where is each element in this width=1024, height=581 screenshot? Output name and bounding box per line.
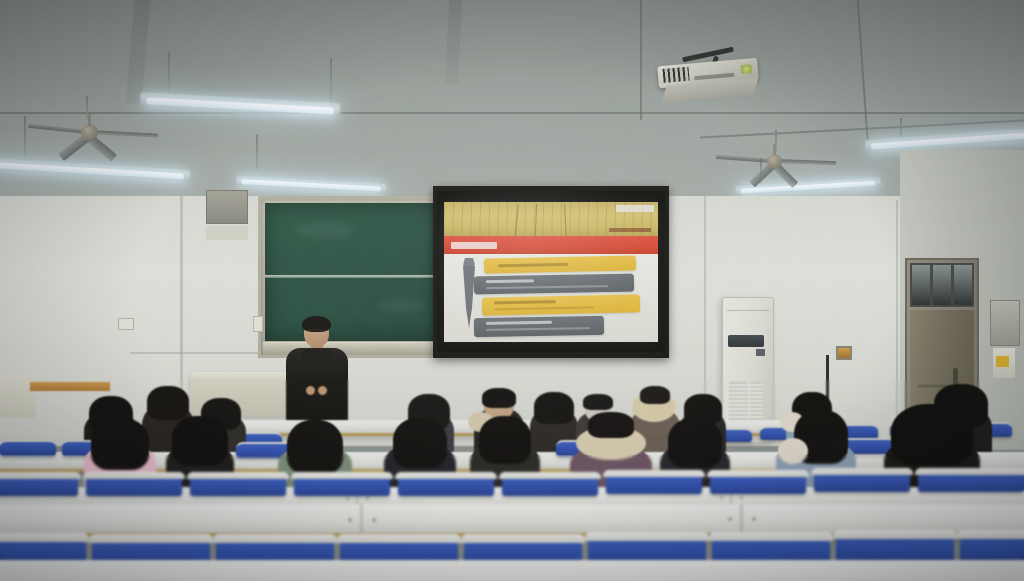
slide-bullet-sub <box>486 285 608 289</box>
slide-bullet-heading <box>486 279 534 283</box>
light-hanger-4 <box>256 134 258 170</box>
wood-trim-strip <box>30 382 110 391</box>
wall-baseboard-line <box>130 352 270 354</box>
chair-frame <box>0 472 81 479</box>
student-hair <box>583 394 613 410</box>
fan-blade <box>88 130 158 138</box>
student-hair <box>147 386 189 420</box>
fan-hub <box>81 124 98 141</box>
chair-frame <box>707 470 809 477</box>
transom-pane <box>954 265 972 305</box>
ac-seam <box>727 310 769 311</box>
slide-bullet-heading <box>498 263 568 267</box>
chair-frame <box>89 534 213 543</box>
chair[interactable] <box>814 470 910 492</box>
light-switch-plate-secondary[interactable] <box>253 316 263 332</box>
student-hair <box>172 416 228 466</box>
projector-vents <box>662 67 689 83</box>
field-furrow <box>535 204 537 236</box>
ac-display-panel <box>728 335 764 347</box>
light-switch-plate[interactable] <box>118 318 134 330</box>
slide-title-banner <box>444 236 658 254</box>
chair[interactable] <box>190 474 286 496</box>
slide-title-text <box>451 242 497 249</box>
chair-frame <box>395 472 497 479</box>
chair[interactable] <box>0 440 56 456</box>
slide-logo <box>616 205 654 212</box>
fan-hub <box>767 154 782 169</box>
projector-label-strip <box>694 73 734 80</box>
slide-bullet-heading <box>486 321 552 325</box>
slide-bullet-sub <box>494 306 594 310</box>
light-hanger-2 <box>330 58 332 104</box>
slide-body <box>444 254 658 342</box>
chair[interactable] <box>836 532 954 562</box>
presenter-hand <box>318 386 327 395</box>
student-hair <box>534 392 574 424</box>
wall-joint-2 <box>704 196 706 396</box>
student-hair <box>668 418 722 468</box>
chair-frame <box>833 530 957 539</box>
chair-frame <box>461 534 585 543</box>
door-handle-icon[interactable] <box>953 368 958 384</box>
student-hair <box>91 418 149 470</box>
desk-fastener <box>346 497 349 500</box>
chair[interactable] <box>918 470 1024 492</box>
wall-speaker-label-plate <box>206 226 248 240</box>
chalk-smudge <box>295 221 355 239</box>
fan-rod <box>773 144 776 155</box>
chair-frame <box>957 530 1024 539</box>
ceiling-seam-2 <box>640 0 642 120</box>
desk-fastener <box>372 518 376 522</box>
chair[interactable] <box>606 472 702 494</box>
light-hanger-3 <box>24 116 26 156</box>
desk-fastener <box>366 497 369 500</box>
student-hair <box>479 416 531 464</box>
wall-outlet[interactable] <box>836 346 852 360</box>
desk-fastener <box>728 517 732 521</box>
presenter <box>286 318 348 430</box>
wall-speaker-icon <box>206 190 248 224</box>
ceiling-fan-right <box>716 148 866 176</box>
chair-frame <box>499 472 601 479</box>
desk-fastener <box>348 518 352 522</box>
desk-fastener <box>720 496 723 499</box>
fan-blade <box>774 159 836 165</box>
wall-notice-board <box>990 300 1020 346</box>
chalk-smudge <box>375 299 425 313</box>
slide-bullet-bar <box>482 294 640 315</box>
glasses-icon <box>306 329 327 333</box>
light-hanger-1 <box>168 52 170 98</box>
front-cabinet <box>0 374 36 418</box>
field-furrow <box>564 204 567 236</box>
chair-frame <box>83 472 185 479</box>
chair-frame <box>709 532 833 541</box>
chair[interactable] <box>0 474 78 496</box>
desk-fastener <box>752 517 756 521</box>
chair-frame <box>0 533 89 542</box>
transom-pane <box>933 265 951 305</box>
chair[interactable] <box>710 472 806 494</box>
student-hair <box>393 418 447 468</box>
wall-notice-sticker <box>996 356 1009 367</box>
student-hair <box>588 412 634 438</box>
chair[interactable] <box>86 474 182 496</box>
student-hair <box>640 386 670 404</box>
slide-header-photo <box>444 202 658 236</box>
chair-frame <box>187 472 289 479</box>
ac-badge <box>756 349 765 356</box>
ceiling-mounted-projector[interactable] <box>658 62 758 110</box>
presenter-collar <box>302 348 332 361</box>
slide-bullet-sub <box>486 327 590 331</box>
presenter-hand <box>306 386 315 395</box>
transom-pane <box>912 265 930 305</box>
chair[interactable] <box>502 474 598 496</box>
chair-frame <box>337 534 461 543</box>
desk-row <box>0 560 1024 581</box>
chair-frame <box>213 534 337 543</box>
chair-frame <box>915 468 1024 475</box>
chair-frame <box>603 470 705 477</box>
slide-bullet-bar <box>474 274 634 295</box>
projection-screen-surface <box>437 191 665 352</box>
student-hair <box>482 388 516 408</box>
chair[interactable] <box>960 532 1024 562</box>
door-transom-windows <box>910 263 974 307</box>
student-hair <box>287 420 343 474</box>
ceiling-fan-left <box>60 118 220 148</box>
desk-seam <box>360 504 363 533</box>
chair-frame <box>291 472 393 479</box>
chair-frame <box>585 532 709 541</box>
fur-hood <box>778 438 808 464</box>
slide-photo-caption <box>609 228 651 232</box>
desk-seam <box>740 504 743 533</box>
fan-blade <box>716 155 774 163</box>
slide-bullet-bar <box>474 316 604 337</box>
desk-fastener <box>740 496 743 499</box>
projection-screen <box>433 186 669 358</box>
classroom-photo <box>0 0 1024 581</box>
field-furrow <box>515 204 519 236</box>
wall-joint-1 <box>180 196 183 396</box>
blackboard-divider <box>265 275 443 278</box>
projector-lens <box>740 64 752 74</box>
fan-rod <box>88 114 91 126</box>
slide-bullet-bar <box>484 255 636 273</box>
slide-bullet-heading <box>494 300 556 304</box>
student-hair <box>891 404 973 466</box>
chair[interactable] <box>294 474 390 496</box>
chair-frame <box>811 468 913 475</box>
presentation-slide <box>444 202 658 342</box>
chair[interactable] <box>398 474 494 496</box>
